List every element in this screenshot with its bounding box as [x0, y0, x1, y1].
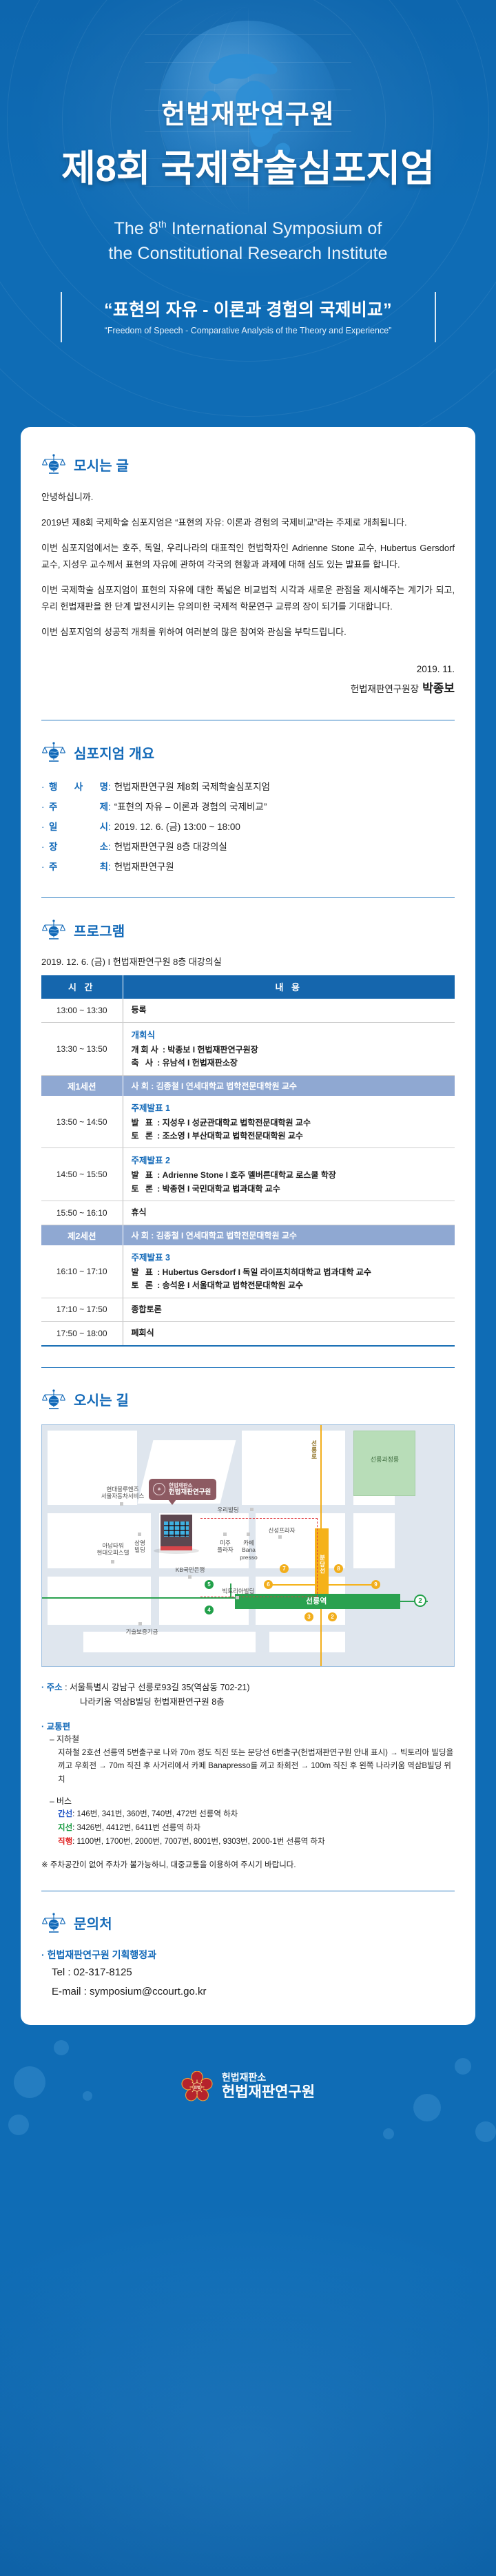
bullet-dot: ·	[41, 837, 49, 857]
table-row-session: 제2세션 사 회 : 김종철 I 연세대학교 법학전문대학원 교수	[41, 1225, 455, 1245]
parking-note: ※ 주차공간이 없어 주차가 불가능하니, 대중교통을 이용하여 주시기 바랍니…	[41, 1859, 455, 1870]
row-time: 17:50 ~ 18:00	[41, 1322, 123, 1346]
scales-globe-icon	[41, 453, 66, 475]
invitation-body: 안녕하십니까. 2019년 제8회 국제학술 심포지엄은 “표현의 자유: 이론…	[41, 489, 455, 641]
table-row: 13:50 ~ 14:50 주제발표 1 발 표 : 지성우 I 성균관대학교 …	[41, 1096, 455, 1148]
overview-label-a: 행	[49, 777, 57, 797]
row-line-label: 사 회	[132, 1081, 149, 1091]
header-org-name: 헌법재판연구원	[0, 0, 496, 131]
row-content: 개회식 개회사 : 박종보 I 헌법재판연구원장 축 사 : 유남석 I 헌법재…	[123, 1022, 455, 1075]
contact-title: 문의처	[74, 1913, 112, 1933]
row-time: 14:50 ~ 15:50	[41, 1148, 123, 1201]
contact-email[interactable]: E-mail : symposium@ccourt.go.kr	[41, 1984, 455, 2000]
row-content: 휴식	[123, 1201, 455, 1225]
row-line-text: 유남석 I 헌법재판소장	[163, 1058, 238, 1068]
row-subtitle: 주제발표 1	[132, 1101, 455, 1114]
overview-label-a: 주	[49, 857, 57, 877]
row-subtitle: 개회식	[132, 1028, 455, 1041]
venue-building-icon	[161, 1515, 192, 1550]
overview-row-value: 헌법재판연구원 제8회 국제학술심포지엄	[114, 777, 270, 797]
map-label-technology-fund: 기술보증기금	[107, 1628, 176, 1636]
scales-globe-icon	[41, 1389, 66, 1411]
footer-line-2: 헌법재판연구원	[222, 2084, 315, 2101]
map-label-victoria: 빅토리아빌딩	[214, 1588, 262, 1595]
row-line-text: 김종철 I 연세대학교 법학전문대학원 교수	[156, 1081, 297, 1091]
bus-row: 지선: 3426번, 4412번, 6411번 선릉역 하차	[41, 1822, 455, 1836]
row-line-text: 박종현 I 국민대학교 법과대학 교수	[163, 1184, 280, 1194]
overview-label-b: 사	[74, 777, 83, 797]
row-line-label: 사 회	[132, 1231, 149, 1240]
poster-footer: 헌법 헌법재판소 헌법재판연구원	[0, 2025, 496, 2149]
bus-text: : 3426번, 4412번, 6411번 선릉역 하차	[72, 1824, 200, 1832]
section-contact: 문의처 · 헌법재판연구원 기획행정과 Tel : 02-317-8125 E-…	[41, 1909, 455, 2000]
colon: :	[108, 817, 111, 837]
col-header-content: 내 용	[123, 975, 455, 999]
program-table: 시 간 내 용 13:00 ~ 13:30 등록 13:30 ~ 13:50	[41, 975, 455, 1346]
row-line-label: 발 표	[132, 1170, 155, 1180]
overview-label-a: 주	[49, 797, 57, 817]
row-content: 주제발표 3 발 표 : Hubertus Gersdorf I 독일 라이프치…	[123, 1245, 455, 1298]
program-title: 프로그램	[74, 920, 125, 940]
row-line-label: 토 론	[132, 1280, 155, 1290]
row-content: 주제발표 1 발 표 : 지성우 I 성균관대학교 법학전문대학원 교수 토 론…	[123, 1096, 455, 1148]
overview-header: 심포지엄 개요	[41, 741, 455, 763]
contact-header: 문의처	[41, 1912, 455, 1934]
address-row: · 주소 : 서울특별시 강남구 선릉로93길 35(역삼동 702-21)	[41, 1681, 455, 1696]
transport-label: · 교통편	[41, 1719, 455, 1732]
address-line-1: 서울특별시 강남구 선릉로93길 35(역삼동 702-21)	[70, 1683, 249, 1692]
col-header-time: 시 간	[41, 975, 123, 999]
row-line: 종합토론	[132, 1303, 455, 1316]
contact-org: · 헌법재판연구원 기획행정과	[41, 1948, 455, 1962]
bus-type-jiseon: 지선	[58, 1824, 72, 1832]
section-program: 프로그램 2019. 12. 6. (금) I 헌법재판연구원 8층 대강의실 …	[41, 916, 455, 1346]
row-time: 13:50 ~ 14:50	[41, 1096, 123, 1148]
pin-line-1: 헌법재판소	[169, 1482, 211, 1488]
row-time: 17:10 ~ 17:50	[41, 1298, 123, 1321]
colon: :	[108, 797, 111, 817]
overview-row-value: 2019. 12. 6. (금) 13:00 ~ 18:00	[114, 817, 240, 837]
row-content: 폐회식	[123, 1322, 455, 1346]
colon: :	[108, 777, 111, 797]
overview-title: 심포지엄 개요	[74, 742, 154, 762]
location-map[interactable]: 선릉과정릉 선릉로 분당선 선릉역 2 5 4 6	[41, 1424, 455, 1667]
overview-label-c: 최	[100, 857, 108, 877]
overview-row-value: 헌법재판연구원 8층 대강의실	[114, 837, 227, 857]
table-row: 13:30 ~ 13:50 개회식 개회사 : 박종보 I 헌법재판연구원장 축…	[41, 1022, 455, 1075]
exit-8[interactable]: 8	[334, 1564, 343, 1573]
header-title-en-line2: the Constitutional Research Institute	[0, 242, 496, 267]
header-title-en-a: The 8	[114, 219, 158, 238]
row-line: 토 론 : 송석윤 I 서울대학교 법학전문대학원 교수	[132, 1279, 455, 1292]
overview-row-label: 장 소	[49, 837, 108, 857]
header-title-en-sup: th	[158, 219, 167, 230]
invitation-paragraph: 안녕하십니까.	[41, 489, 455, 506]
invitation-title: 모시는 글	[74, 455, 129, 475]
exit-2[interactable]: 2	[328, 1612, 337, 1621]
section-overview: 심포지엄 개요 · 행 사 명 : 헌법재판연구원 제8회 국제학술심포지엄 ·…	[41, 738, 455, 877]
bullet-dot: ·	[41, 1949, 48, 1960]
table-row: 17:10 ~ 17:50 종합토론	[41, 1298, 455, 1321]
bus-type-jikhaeng: 직행	[58, 1838, 72, 1846]
overview-row: · 행 사 명 : 헌법재판연구원 제8회 국제학술심포지엄	[41, 777, 455, 797]
table-row: 14:50 ~ 15:50 주제발표 2 발 표 : Adrienne Ston…	[41, 1148, 455, 1201]
overview-label-c: 제	[100, 797, 108, 817]
row-subtitle: 주제발표 2	[132, 1153, 455, 1166]
session-content: 사 회 : 김종철 I 연세대학교 법학전문대학원 교수	[123, 1225, 455, 1245]
scales-globe-icon	[41, 1912, 66, 1934]
overview-row-value: “표현의 자유 – 이론과 경험의 국제비교”	[114, 797, 267, 817]
divider	[41, 720, 455, 720]
bullet-dot: ·	[41, 1683, 47, 1692]
row-content: 종합토론	[123, 1298, 455, 1321]
address-label: 주소	[47, 1683, 63, 1692]
row-line-text: 송석윤 I 서울대학교 법학전문대학원 교수	[163, 1280, 303, 1290]
row-content: 주제발표 2 발 표 : Adrienne Stone I 호주 멜버른대학교 …	[123, 1148, 455, 1201]
session-content: 사 회 : 김종철 I 연세대학교 법학전문대학원 교수	[123, 1075, 455, 1096]
pin-line-2: 헌법재판연구원	[169, 1488, 211, 1497]
session-label: 제2세션	[41, 1225, 123, 1245]
section-directions: 오시는 길 선릉과정릉	[41, 1386, 455, 1870]
row-line-label: 발 표	[132, 1118, 155, 1128]
mugunghwa-emblem-icon: 헌법	[181, 2071, 213, 2103]
row-line: 개회사 : 박종보 I 헌법재판연구원장	[132, 1043, 455, 1057]
row-line-label: 축 사	[132, 1058, 155, 1068]
map-label-park: 선릉과정릉	[355, 1456, 414, 1464]
overview-row-label: 행 사 명	[49, 777, 108, 797]
bullet-dot: ·	[41, 857, 49, 877]
bullet-dot: ·	[41, 1722, 47, 1732]
divider	[41, 1891, 455, 1891]
bus-text: : 146번, 341번, 360번, 740번, 472번 선릉역 하차	[72, 1810, 238, 1818]
row-time: 13:00 ~ 13:30	[41, 999, 123, 1022]
map-label-bundang: 분당선	[318, 1555, 327, 1575]
overview-label-c: 소	[100, 837, 108, 857]
table-header-row: 시 간 내 용	[41, 975, 455, 999]
session-label: 제1세션	[41, 1075, 123, 1096]
row-time: 16:10 ~ 17:10	[41, 1245, 123, 1298]
bullet-dot: ·	[41, 777, 49, 797]
address-line-2: 나라키움 역삼B빌딩 헌법재판연구원 8층	[41, 1695, 455, 1710]
footer-line-1: 헌법재판소	[222, 2072, 315, 2084]
program-where: 2019. 12. 6. (금) I 헌법재판연구원 8층 대강의실	[41, 955, 455, 968]
contact-tel[interactable]: Tel : 02-317-8125	[41, 1964, 455, 1981]
invitation-paragraph: 이번 심포지엄에서는 호주, 독일, 우리나라의 대표적인 헌법학자인 Adri…	[41, 540, 455, 573]
invitation-paragraph: 이번 국제학술 심포지엄이 표현의 자유에 대한 폭넓은 비교법적 시각과 새로…	[41, 582, 455, 615]
row-line: 발 표 : Adrienne Stone I 호주 멜버른대학교 로스쿨 학장	[132, 1169, 455, 1182]
footer-text: 헌법재판소 헌법재판연구원	[222, 2072, 315, 2102]
map-label-hyundai: 현대블루핸즈 서울자동차서비스	[85, 1486, 161, 1500]
row-line-label: 개회사	[132, 1045, 161, 1055]
row-line: 등록	[132, 1004, 455, 1017]
map-label-kb: KB국민은행	[159, 1566, 221, 1574]
bus-row: 직행: 1100번, 1700번, 2000번, 7007번, 8001번, 9…	[41, 1836, 455, 1849]
subway-text: 지하철 2호선 선릉역 5번출구로 나와 70m 정도 직진 또는 분당선 6번…	[41, 1747, 455, 1787]
bus-head: – 버스	[41, 1794, 455, 1808]
overview-row: · 일 시 : 2019. 12. 6. (금) 13:00 ~ 18:00	[41, 817, 455, 837]
row-line: 토 론 : 조소영 I 부산대학교 법학전문대학원 교수	[132, 1130, 455, 1143]
table-row-session: 제1세션 사 회 : 김종철 I 연세대학교 법학전문대학원 교수	[41, 1075, 455, 1096]
map-label-cafe: 카페 Bana presso	[234, 1539, 264, 1561]
row-line: 토 론 : 박종현 I 국민대학교 법과대학 교수	[132, 1183, 455, 1196]
overview-row: · 주 제 : “표현의 자유 – 이론과 경험의 국제비교”	[41, 797, 455, 817]
section-invitation: 모시는 글 안녕하십니까. 2019년 제8회 국제학술 심포지엄은 “표현의 …	[41, 450, 455, 699]
program-header: 프로그램	[41, 919, 455, 941]
bus-text: : 1100번, 1700번, 2000번, 7007번, 8001번, 930…	[72, 1838, 325, 1846]
colon: :	[108, 837, 111, 857]
bus-type-kanseon: 간선	[58, 1810, 72, 1818]
row-line-label: 토 론	[132, 1184, 155, 1194]
row-line: 휴식	[132, 1206, 455, 1219]
overview-row-value: 헌법재판연구원	[114, 857, 174, 877]
header-title-en: The 8th International Symposium of the C…	[0, 217, 496, 266]
row-time: 15:50 ~ 16:10	[41, 1201, 123, 1225]
invitation-paragraph: 이번 심포지엄의 성공적 개최를 위하여 여러분의 많은 참여와 관심을 부탁드…	[41, 624, 455, 641]
road-seolleung	[320, 1425, 322, 1528]
map-label-seolleung-ro: 선릉로	[310, 1440, 318, 1460]
header-title-en-b: International Symposium of	[167, 219, 382, 238]
map-label-woori: 우리빌딩	[207, 1506, 249, 1514]
row-line: 발 표 : 지성우 I 성균관대학교 법학전문대학원 교수	[132, 1116, 455, 1130]
map-label-sinseong: 신성프라자	[261, 1527, 302, 1535]
map-label-samyoung: 삼영 빌딩	[126, 1539, 154, 1554]
row-line-text: 박종보 I 헌법재판연구원장	[167, 1045, 258, 1055]
overview-label-c: 명	[100, 777, 108, 797]
emblem-text: 헌법	[194, 2084, 200, 2090]
road-seolleung-south	[320, 1604, 322, 1667]
row-line: 발 표 : Hubertus Gersdorf I 독일 라이프치히대학교 법과…	[132, 1266, 455, 1279]
overview-row: · 주 최 : 헌법재판연구원	[41, 857, 455, 877]
table-row: 16:10 ~ 17:10 주제발표 3 발 표 : Hubertus Gers…	[41, 1245, 455, 1298]
theme-ko: “표현의 자유 - 이론과 경험의 국제비교”	[72, 296, 425, 321]
signature-name: 박종보	[422, 682, 455, 695]
invitation-header: 모시는 글	[41, 453, 455, 475]
subway-head: – 지하철	[41, 1732, 455, 1746]
header-title-ko: 제8회 국제학술심포지엄	[0, 138, 496, 192]
row-line-text: 지성우 I 성균관대학교 법학전문대학원 교수	[163, 1118, 311, 1128]
table-row: 13:00 ~ 13:30 등록	[41, 999, 455, 1022]
bullet-dot: ·	[41, 797, 49, 817]
invitation-paragraph: 2019년 제8회 국제학술 심포지엄은 “표현의 자유: 이론과 경험의 국제…	[41, 515, 455, 531]
exit-4[interactable]: 4	[205, 1606, 214, 1614]
exit-9[interactable]: 9	[371, 1580, 380, 1589]
row-line-label: 토 론	[132, 1131, 155, 1141]
row-line-label: 발 표	[132, 1267, 155, 1277]
colon: :	[108, 857, 111, 877]
table-row: 17:50 ~ 18:00 폐회식	[41, 1322, 455, 1346]
overview-label-a: 장	[49, 837, 57, 857]
signature-role: 헌법재판연구원장	[351, 684, 419, 694]
row-line-text: Adrienne Stone I 호주 멜버른대학교 로스쿨 학장	[163, 1170, 336, 1180]
scales-globe-icon	[41, 919, 66, 941]
row-time: 13:30 ~ 13:50	[41, 1022, 123, 1075]
poster-root: 헌법재판연구원 제8회 국제학술심포지엄 The 8th Internation…	[0, 0, 496, 2576]
scales-globe-icon	[41, 741, 66, 763]
divider	[41, 897, 455, 898]
overview-row-label: 주 제	[49, 797, 108, 817]
bullet-dot: ·	[41, 817, 49, 837]
row-subtitle: 주제발표 3	[132, 1250, 455, 1263]
row-line-text: 조소영 I 부산대학교 법학전문대학원 교수	[163, 1131, 303, 1141]
poster-header: 헌법재판연구원 제8회 국제학술심포지엄 The 8th Internation…	[0, 0, 496, 427]
overview-label-c: 시	[100, 817, 108, 837]
content-card: 모시는 글 안녕하십니까. 2019년 제8회 국제학술 심포지엄은 “표현의 …	[21, 427, 475, 2025]
overview-row-label: 일 시	[49, 817, 108, 837]
row-content: 등록	[123, 999, 455, 1022]
overview-label-a: 일	[49, 817, 57, 837]
invitation-signature: 2019. 11. 헌법재판연구원장박종보	[41, 661, 455, 699]
divider	[41, 1367, 455, 1368]
row-line-text: 김종철 I 연세대학교 법학전문대학원 교수	[156, 1231, 297, 1240]
directions-title: 오시는 길	[74, 1389, 129, 1409]
directions-header: 오시는 길	[41, 1389, 455, 1411]
overview-row: · 장 소 : 헌법재판연구원 8층 대강의실	[41, 837, 455, 857]
subway-line-2-west	[42, 1597, 235, 1599]
row-line-text: Hubertus Gersdorf I 독일 라이프치히대학교 법과대학 교수	[163, 1267, 371, 1277]
row-line: 축 사 : 유남석 I 헌법재판소장	[132, 1057, 455, 1070]
bus-row: 간선: 146번, 341번, 360번, 740번, 472번 선릉역 하차	[41, 1808, 455, 1822]
theme-en: “Freedom of Speech - Comparative Analysi…	[72, 326, 425, 335]
signature-date: 2019. 11.	[41, 661, 455, 678]
row-line: 폐회식	[132, 1327, 455, 1340]
subway-line-badge[interactable]: 2	[414, 1595, 426, 1607]
theme-box: “표현의 자유 - 이론과 경험의 국제비교” “Freedom of Spee…	[61, 292, 436, 342]
exit-3[interactable]: 3	[304, 1612, 313, 1621]
overview-row-label: 주 최	[49, 857, 108, 877]
table-row: 15:50 ~ 16:10 휴식	[41, 1201, 455, 1225]
